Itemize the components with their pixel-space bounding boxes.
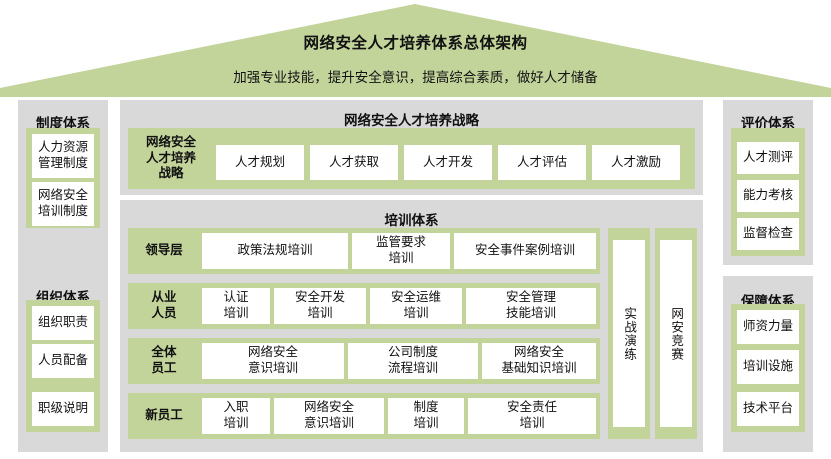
list-item[interactable]: 人员配备 — [32, 344, 94, 378]
diagram-subtitle: 加强专业技能，提升安全意识，提高综合素质，做好人才储备 — [0, 66, 831, 86]
training-row-label-new-employee: 新员工 — [130, 393, 198, 439]
table-row[interactable]: 安全管理 技能培训 — [466, 288, 596, 324]
list-item[interactable]: 培训设施 — [737, 350, 799, 384]
training-row-label-practitioner: 从业 人员 — [130, 283, 198, 329]
training-row-label-leadership: 领导层 — [130, 228, 198, 274]
list-item[interactable]: 人才开发 — [404, 145, 492, 180]
list-item[interactable]: 技术平台 — [737, 392, 799, 426]
table-row[interactable]: 安全责任 培训 — [468, 398, 596, 434]
table-row[interactable]: 监管要求 培训 — [352, 233, 450, 269]
list-item[interactable]: 人才评估 — [498, 145, 586, 180]
list-item[interactable]: 组织职责 — [32, 306, 94, 340]
side-column-drill[interactable]: 实战演练 — [613, 240, 645, 427]
table-row[interactable]: 安全开发 培训 — [274, 288, 366, 324]
table-row[interactable]: 网络安全 意识培训 — [202, 343, 344, 379]
table-row[interactable]: 公司制度 流程培训 — [348, 343, 478, 379]
table-row[interactable]: 安全运维 培训 — [370, 288, 462, 324]
table-row[interactable]: 认证 培训 — [202, 288, 270, 324]
diagram-title: 网络安全人才培养体系总体架构 — [0, 31, 831, 53]
strategy-row-label: 网络安全 人才培养 战略 — [132, 130, 210, 187]
list-item[interactable]: 人才规划 — [216, 145, 304, 180]
table-row[interactable]: 网络安全 意识培训 — [274, 398, 384, 434]
list-item[interactable]: 人力资源 管理制度 — [32, 134, 94, 178]
side-column-drill-label: 实战演练 — [621, 307, 637, 361]
table-row[interactable]: 安全事件案例培训 — [454, 233, 596, 269]
list-item[interactable]: 人才测评 — [737, 142, 799, 174]
side-column-competition-label: 网安竞赛 — [668, 307, 684, 361]
list-item[interactable]: 人才获取 — [310, 145, 398, 180]
training-row-label-all-staff: 全体 员工 — [130, 338, 198, 384]
table-row[interactable]: 制度 培训 — [388, 398, 464, 434]
list-item[interactable]: 监督检查 — [737, 218, 799, 250]
table-row[interactable]: 入职 培训 — [202, 398, 270, 434]
table-row[interactable]: 政策法规培训 — [202, 233, 348, 269]
architecture-diagram: 网络安全人才培养体系总体架构 加强专业技能，提升安全意识，提高综合素质，做好人才… — [0, 0, 831, 459]
list-item[interactable]: 网络安全 培训制度 — [32, 182, 94, 226]
roof-banner: 网络安全人才培养体系总体架构 加强专业技能，提升安全意识，提高综合素质，做好人才… — [0, 0, 831, 97]
panel-title-strategy: 网络安全人才培养战略 — [120, 109, 703, 129]
list-item[interactable]: 能力考核 — [737, 180, 799, 212]
list-item[interactable]: 职级说明 — [32, 392, 94, 426]
side-column-competition[interactable]: 网安竞赛 — [660, 240, 692, 427]
list-item[interactable]: 师资力量 — [737, 310, 799, 344]
panel-title-training: 培训体系 — [120, 209, 703, 229]
table-row[interactable]: 网络安全 基础知识培训 — [482, 343, 596, 379]
list-item[interactable]: 人才激励 — [592, 145, 680, 180]
